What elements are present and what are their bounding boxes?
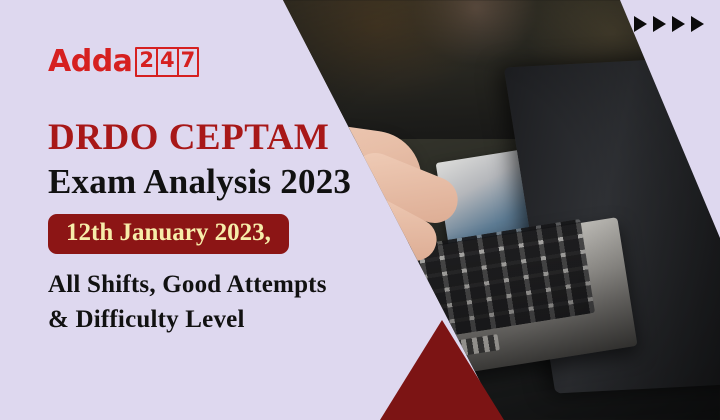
subtitle-line-shifts-attempts: All Shifts, Good Attempts — [48, 268, 398, 303]
logo-digit-4: 4 — [158, 49, 179, 75]
logo-wordmark: Adda — [48, 47, 132, 77]
title-line-exam-name: DRDO CEPTAM — [48, 118, 398, 158]
exam-date-badge: 12th January 2023, — [48, 214, 289, 254]
adda247-logo[interactable]: Adda 2 4 7 — [48, 47, 199, 77]
logo-digit-7: 7 — [179, 49, 198, 75]
play-triangle-icon — [634, 16, 647, 32]
title-line-exam-analysis: Exam Analysis 2023 — [48, 162, 398, 201]
promo-banner: Adda 2 4 7 DRDO CEPTAM Exam Analysis 202… — [0, 0, 720, 420]
logo-digit-2: 2 — [137, 49, 158, 75]
triangle-accent — [380, 320, 504, 420]
logo-247-box: 2 4 7 — [135, 47, 199, 77]
headline-block: DRDO CEPTAM Exam Analysis 2023 12th Janu… — [48, 118, 398, 337]
play-triangle-icon — [653, 16, 666, 32]
subtitle-line-difficulty: & Difficulty Level — [48, 303, 398, 338]
play-triangle-icon — [691, 16, 704, 32]
arrow-decoration — [634, 16, 704, 32]
play-triangle-icon — [672, 16, 685, 32]
